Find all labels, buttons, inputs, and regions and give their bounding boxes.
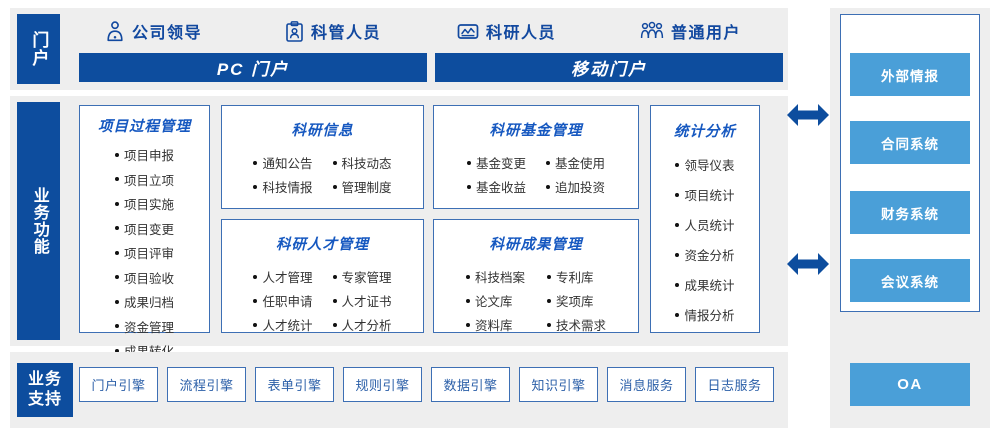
card-body: 人才管理 任职申请 人才统计 专家管理 人才证书 人才分析 — [253, 267, 391, 334]
support-service-log[interactable]: 日志服务 — [695, 367, 774, 402]
external-system-label: 外部情报 — [881, 65, 939, 85]
list-item[interactable]: 人才管理 — [253, 267, 312, 286]
role-label: 普通用户 — [671, 19, 741, 43]
bullet-column: 领导仪表 项目统计 人员统计 资金分析 成果统计 情报分析 — [675, 155, 734, 324]
list-item[interactable]: 资金分析 — [675, 245, 734, 264]
support-engine-knowledge[interactable]: 知识引擎 — [519, 367, 598, 402]
list-item[interactable]: 人员统计 — [675, 215, 734, 234]
list-item[interactable]: 成果统计 — [675, 275, 734, 294]
role-research-admin[interactable]: 科管人员 — [285, 19, 381, 43]
list-item[interactable]: 资金管理 — [115, 317, 174, 336]
list-item[interactable]: 专利库 — [547, 267, 606, 286]
leader-icon — [105, 21, 125, 42]
role-normal-user[interactable]: 普通用户 — [640, 19, 741, 43]
list-item[interactable]: 科技动态 — [333, 153, 392, 172]
support-engine-form[interactable]: 表单引擎 — [255, 367, 334, 402]
list-item[interactable]: 项目验收 — [115, 268, 174, 287]
support-engine-label: 知识引擎 — [531, 375, 585, 394]
list-item[interactable]: 项目申报 — [115, 145, 174, 164]
list-item[interactable]: 论文库 — [466, 291, 525, 310]
list-item[interactable]: 基金变更 — [467, 153, 526, 172]
external-system-label: 合同系统 — [881, 133, 939, 153]
role-label: 科管人员 — [311, 19, 381, 43]
layer-label-business-function-text: 业务功能 — [28, 187, 48, 255]
list-item[interactable]: 任职申请 — [253, 291, 312, 310]
external-system-contract[interactable]: 合同系统 — [850, 121, 970, 164]
bullet-column: 科技动态 管理制度 — [333, 153, 392, 196]
layer-label-business-function: 业务功能 — [17, 102, 60, 340]
list-item[interactable]: 项目实施 — [115, 194, 174, 213]
bullet-column: 基金使用 追加投资 — [546, 153, 605, 196]
external-system-label: 会议系统 — [881, 271, 939, 291]
chart-monitor-icon — [457, 22, 479, 41]
support-engine-label: 门户引擎 — [91, 375, 145, 394]
external-system-finance[interactable]: 财务系统 — [850, 191, 970, 234]
card-title: 科研成果管理 — [490, 233, 583, 254]
external-system-meeting[interactable]: 会议系统 — [850, 259, 970, 302]
card-title: 项目过程管理 — [98, 115, 191, 136]
bullet-column: 项目申报 项目立项 项目实施 项目变更 项目评审 项目验收 成果归档 资金管理 … — [115, 145, 174, 360]
portal-pc-label: PC 门户 — [217, 55, 289, 80]
list-item[interactable]: 科技情报 — [253, 177, 312, 196]
layer-label-business-support-text: 业务支持 — [26, 370, 64, 409]
integration-arrow-top — [787, 102, 829, 133]
architecture-diagram: 门户 公司领导 科管人员 — [0, 0, 1000, 436]
layer-label-portal: 门户 — [17, 14, 60, 84]
support-engine-label: 流程引擎 — [179, 375, 233, 394]
support-engine-process[interactable]: 流程引擎 — [167, 367, 246, 402]
integration-arrow-bottom — [787, 251, 829, 282]
support-engine-portal[interactable]: 门户引擎 — [79, 367, 158, 402]
card-research-information[interactable]: 科研信息 通知公告 科技情报 科技动态 管理制度 — [221, 105, 424, 209]
card-research-achievement-management[interactable]: 科研成果管理 科技档案 论文库 资料库 专利库 奖项库 技术需求 — [433, 219, 639, 333]
list-item[interactable]: 领导仪表 — [675, 155, 734, 174]
card-title: 统计分析 — [674, 120, 736, 141]
bullet-column: 通知公告 科技情报 — [253, 153, 312, 196]
list-item[interactable]: 基金收益 — [467, 177, 526, 196]
list-item[interactable]: 项目评审 — [115, 243, 174, 262]
support-engine-label: 日志服务 — [707, 375, 761, 394]
list-item[interactable]: 基金使用 — [546, 153, 605, 172]
list-item[interactable]: 技术需求 — [547, 315, 606, 334]
bullet-column: 专家管理 人才证书 人才分析 — [333, 267, 392, 334]
list-item[interactable]: 项目统计 — [675, 185, 734, 204]
list-item[interactable]: 管理制度 — [333, 177, 392, 196]
list-item[interactable]: 情报分析 — [675, 305, 734, 324]
support-engine-rule[interactable]: 规则引擎 — [343, 367, 422, 402]
card-project-process-management[interactable]: 项目过程管理 项目申报 项目立项 项目实施 项目变更 项目评审 项目验收 成果归… — [79, 105, 210, 333]
list-item[interactable]: 追加投资 — [546, 177, 605, 196]
bullet-column: 科技档案 论文库 资料库 — [466, 267, 525, 334]
list-item[interactable]: 人才统计 — [253, 315, 312, 334]
support-engine-label: 数据引擎 — [443, 375, 497, 394]
card-body: 通知公告 科技情报 科技动态 管理制度 — [253, 153, 391, 196]
support-engine-label: 规则引擎 — [355, 375, 409, 394]
list-item[interactable]: 资料库 — [466, 315, 525, 334]
card-research-talent-management[interactable]: 科研人才管理 人才管理 任职申请 人才统计 专家管理 人才证书 人才分析 — [221, 219, 424, 333]
list-item[interactable]: 人才证书 — [333, 291, 392, 310]
list-item[interactable]: 项目立项 — [115, 170, 174, 189]
portal-mobile-label: 移动门户 — [571, 55, 647, 80]
list-item[interactable]: 成果归档 — [115, 292, 174, 311]
portal-pc[interactable]: PC 门户 — [79, 53, 427, 82]
bullet-column: 人才管理 任职申请 人才统计 — [253, 267, 312, 334]
external-system-oa[interactable]: OA — [850, 363, 970, 406]
external-system-intelligence[interactable]: 外部情报 — [850, 53, 970, 96]
support-service-message[interactable]: 消息服务 — [607, 367, 686, 402]
list-item[interactable]: 项目变更 — [115, 219, 174, 238]
card-title: 科研基金管理 — [490, 119, 583, 140]
support-engine-label: 表单引擎 — [267, 375, 321, 394]
card-research-fund-management[interactable]: 科研基金管理 基金变更 基金收益 基金使用 追加投资 — [433, 105, 639, 209]
support-engine-label: 消息服务 — [619, 375, 673, 394]
list-item[interactable]: 奖项库 — [547, 291, 606, 310]
role-researcher[interactable]: 科研人员 — [457, 19, 556, 43]
bullet-column: 专利库 奖项库 技术需求 — [547, 267, 606, 334]
external-system-label: OA — [897, 376, 923, 393]
card-body: 科技档案 论文库 资料库 专利库 奖项库 技术需求 — [466, 267, 606, 334]
card-title: 科研信息 — [292, 119, 354, 140]
role-label: 科研人员 — [486, 19, 556, 43]
layer-label-business-support: 业务支持 — [17, 363, 73, 417]
card-title: 科研人才管理 — [276, 233, 369, 254]
card-statistical-analysis[interactable]: 统计分析 领导仪表 项目统计 人员统计 资金分析 成果统计 情报分析 — [650, 105, 760, 333]
group-people-icon — [640, 21, 664, 41]
card-body: 基金变更 基金收益 基金使用 追加投资 — [467, 153, 605, 196]
external-system-label: 财务系统 — [881, 203, 939, 223]
list-item[interactable]: 人才分析 — [333, 315, 392, 334]
role-company-leader[interactable]: 公司领导 — [105, 19, 202, 43]
list-item[interactable]: 科技档案 — [466, 267, 525, 286]
card-body: 项目申报 项目立项 项目实施 项目变更 项目评审 项目验收 成果归档 资金管理 … — [115, 145, 174, 360]
layer-label-portal-text: 门户 — [28, 31, 50, 67]
list-item[interactable]: 通知公告 — [253, 153, 312, 172]
clipboard-person-icon — [285, 21, 304, 42]
support-engine-data[interactable]: 数据引擎 — [431, 367, 510, 402]
list-item[interactable]: 专家管理 — [333, 267, 392, 286]
role-label: 公司领导 — [132, 19, 202, 43]
portal-mobile[interactable]: 移动门户 — [435, 53, 783, 82]
card-body: 领导仪表 项目统计 人员统计 资金分析 成果统计 情报分析 — [675, 155, 734, 324]
bullet-column: 基金变更 基金收益 — [467, 153, 526, 196]
